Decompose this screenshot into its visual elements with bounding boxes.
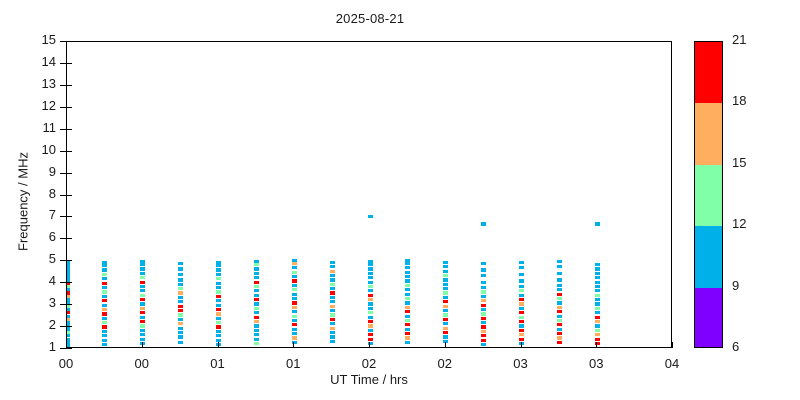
data-point bbox=[595, 302, 600, 305]
data-point bbox=[368, 294, 373, 297]
data-point bbox=[557, 328, 562, 331]
data-point bbox=[519, 294, 524, 297]
data-point bbox=[481, 268, 486, 271]
data-point bbox=[178, 322, 183, 325]
data-point bbox=[368, 302, 373, 305]
data-point bbox=[254, 320, 259, 323]
data-point bbox=[102, 268, 107, 271]
data-point bbox=[216, 321, 221, 324]
colorbar-band-orange bbox=[695, 103, 722, 164]
data-point bbox=[405, 328, 410, 331]
data-point bbox=[216, 290, 221, 293]
data-point bbox=[405, 266, 410, 269]
data-point bbox=[254, 263, 259, 266]
data-point bbox=[368, 285, 373, 288]
y-axis-title: Frequency / MHz bbox=[16, 117, 31, 287]
data-point bbox=[254, 302, 259, 305]
data-point bbox=[254, 260, 259, 263]
data-point bbox=[557, 336, 562, 339]
data-point bbox=[519, 324, 524, 327]
data-point bbox=[443, 318, 448, 321]
data-point bbox=[102, 317, 107, 320]
data-point bbox=[67, 291, 70, 294]
data-point bbox=[140, 285, 145, 288]
data-point bbox=[216, 312, 221, 315]
data-point bbox=[178, 331, 183, 334]
data-point bbox=[405, 279, 410, 282]
data-point bbox=[67, 298, 70, 301]
data-point bbox=[405, 301, 410, 304]
data-point bbox=[216, 286, 221, 289]
data-point bbox=[178, 313, 183, 316]
data-point bbox=[140, 307, 145, 310]
data-point bbox=[519, 338, 524, 341]
colorbar-tick-label: 21 bbox=[732, 32, 746, 47]
data-point bbox=[254, 272, 259, 275]
data-point bbox=[519, 333, 524, 336]
data-point bbox=[67, 318, 70, 321]
data-point bbox=[178, 296, 183, 299]
data-point bbox=[368, 329, 373, 332]
data-point bbox=[481, 321, 486, 324]
y-tick-label: 15 bbox=[16, 32, 56, 47]
y-tick-inner bbox=[66, 85, 72, 86]
data-point bbox=[292, 266, 297, 269]
data-point bbox=[254, 311, 259, 314]
data-point bbox=[405, 323, 410, 326]
data-point bbox=[140, 333, 145, 336]
data-point bbox=[368, 338, 373, 341]
data-point bbox=[481, 295, 486, 298]
data-point bbox=[67, 334, 70, 337]
x-tick-label: 01 bbox=[273, 356, 313, 371]
data-point bbox=[330, 300, 335, 303]
data-point bbox=[330, 274, 335, 277]
data-point bbox=[140, 294, 145, 297]
y-tick-label: 14 bbox=[16, 54, 56, 69]
data-point bbox=[140, 311, 145, 314]
data-point bbox=[443, 327, 448, 330]
x-tick-label: 04 bbox=[652, 356, 692, 371]
data-point bbox=[140, 329, 145, 332]
y-tick-label: 2 bbox=[16, 317, 56, 332]
y-tick-inner bbox=[66, 151, 72, 152]
data-point bbox=[330, 296, 335, 299]
data-point bbox=[557, 284, 562, 287]
x-tick bbox=[672, 342, 673, 348]
data-point bbox=[140, 267, 145, 270]
data-point bbox=[443, 270, 448, 273]
data-point bbox=[67, 338, 70, 341]
data-point bbox=[519, 329, 524, 332]
colorbar-band-purple bbox=[695, 288, 722, 348]
data-point bbox=[216, 325, 221, 328]
data-point bbox=[405, 319, 410, 322]
data-point bbox=[405, 288, 410, 291]
data-point bbox=[481, 262, 486, 265]
colorbar-tick-label: 9 bbox=[732, 278, 739, 293]
data-point bbox=[519, 289, 524, 292]
data-point bbox=[216, 277, 221, 280]
data-point bbox=[557, 315, 562, 318]
y-tick-inner bbox=[66, 216, 72, 217]
data-point bbox=[254, 298, 259, 301]
data-point bbox=[368, 281, 373, 284]
colorbar-tick-label: 18 bbox=[732, 93, 746, 108]
data-point bbox=[102, 261, 107, 264]
data-point bbox=[102, 295, 107, 298]
data-point bbox=[330, 313, 335, 316]
data-point bbox=[254, 316, 259, 319]
data-point bbox=[557, 288, 562, 291]
y-tick-inner bbox=[66, 63, 72, 64]
data-point bbox=[140, 289, 145, 292]
data-point bbox=[405, 315, 410, 318]
data-point bbox=[443, 309, 448, 312]
data-point bbox=[405, 336, 410, 339]
data-point bbox=[481, 312, 486, 315]
data-point bbox=[405, 332, 410, 335]
data-point bbox=[595, 294, 600, 297]
data-point bbox=[178, 309, 183, 312]
x-tick-label: 02 bbox=[425, 356, 465, 371]
data-point bbox=[368, 260, 373, 263]
data-point bbox=[216, 299, 221, 302]
y-tick-inner bbox=[66, 41, 72, 42]
data-point bbox=[292, 301, 297, 304]
data-point bbox=[368, 298, 373, 301]
data-point bbox=[519, 298, 524, 301]
data-point bbox=[481, 304, 486, 307]
y-tick-inner bbox=[66, 304, 72, 305]
data-point bbox=[102, 290, 107, 293]
data-point bbox=[292, 293, 297, 296]
data-point bbox=[368, 307, 373, 310]
data-point bbox=[102, 286, 107, 289]
data-point bbox=[443, 300, 448, 303]
data-point bbox=[330, 327, 335, 330]
data-point bbox=[102, 308, 107, 311]
data-point bbox=[330, 340, 335, 343]
data-point bbox=[330, 278, 335, 281]
data-point bbox=[330, 283, 335, 286]
data-point bbox=[557, 278, 562, 281]
data-point bbox=[292, 332, 297, 335]
data-point bbox=[216, 261, 221, 264]
data-point bbox=[595, 281, 600, 284]
data-point bbox=[519, 261, 524, 264]
data-point bbox=[102, 312, 107, 315]
data-point bbox=[405, 271, 410, 274]
colorbar bbox=[694, 41, 723, 348]
data-point bbox=[519, 285, 524, 288]
data-point bbox=[178, 335, 183, 338]
data-point bbox=[368, 272, 373, 275]
data-point bbox=[178, 300, 183, 303]
data-point bbox=[292, 297, 297, 300]
data-point bbox=[292, 323, 297, 326]
data-point bbox=[140, 298, 145, 301]
data-point bbox=[330, 305, 335, 308]
data-point bbox=[595, 222, 600, 225]
data-point bbox=[254, 267, 259, 270]
y-tick-inner bbox=[66, 195, 72, 196]
data-point bbox=[443, 287, 448, 290]
data-point bbox=[67, 308, 70, 311]
x-axis-title: UT Time / hrs bbox=[66, 372, 672, 387]
data-point bbox=[443, 296, 448, 299]
data-point bbox=[254, 281, 259, 284]
data-point bbox=[216, 273, 221, 276]
data-point bbox=[557, 341, 562, 344]
data-point bbox=[557, 332, 562, 335]
data-point bbox=[405, 259, 410, 262]
data-point bbox=[443, 322, 448, 325]
data-point bbox=[102, 304, 107, 307]
data-point bbox=[481, 330, 486, 333]
colorbar-band-mint-green bbox=[695, 165, 722, 226]
data-point bbox=[178, 278, 183, 281]
data-point bbox=[292, 275, 297, 278]
data-point bbox=[140, 302, 145, 305]
data-point bbox=[102, 277, 107, 280]
colorbar-tick-label: 6 bbox=[732, 339, 739, 354]
data-point bbox=[595, 329, 600, 332]
data-point bbox=[368, 324, 373, 327]
data-point bbox=[481, 274, 486, 277]
data-canvas bbox=[67, 42, 671, 347]
data-point bbox=[216, 330, 221, 333]
data-point bbox=[481, 334, 486, 337]
data-point bbox=[595, 263, 600, 266]
data-point bbox=[254, 294, 259, 297]
data-point bbox=[67, 328, 70, 331]
data-point bbox=[140, 272, 145, 275]
y-tick-inner bbox=[66, 326, 72, 327]
data-point bbox=[178, 327, 183, 330]
data-point bbox=[67, 268, 70, 271]
data-point bbox=[140, 320, 145, 323]
data-point bbox=[595, 338, 600, 341]
x-tick-label: 01 bbox=[198, 356, 238, 371]
data-point bbox=[443, 305, 448, 308]
data-point bbox=[216, 264, 221, 267]
data-point bbox=[595, 316, 600, 319]
data-point bbox=[292, 262, 297, 265]
data-point bbox=[292, 279, 297, 282]
data-point bbox=[330, 265, 335, 268]
data-point bbox=[292, 310, 297, 313]
data-point bbox=[216, 308, 221, 311]
data-point bbox=[178, 283, 183, 286]
data-point bbox=[519, 320, 524, 323]
data-point bbox=[368, 276, 373, 279]
data-point bbox=[178, 267, 183, 270]
data-point bbox=[368, 289, 373, 292]
data-point bbox=[140, 276, 145, 279]
data-point bbox=[67, 278, 70, 281]
data-point bbox=[216, 334, 221, 337]
data-point bbox=[330, 270, 335, 273]
data-point bbox=[519, 266, 524, 269]
data-point bbox=[67, 311, 70, 314]
data-point bbox=[443, 274, 448, 277]
data-point bbox=[557, 297, 562, 300]
data-point bbox=[557, 265, 562, 268]
data-point bbox=[102, 330, 107, 333]
data-point bbox=[443, 278, 448, 281]
data-point bbox=[254, 276, 259, 279]
colorbar-tick-label: 12 bbox=[732, 216, 746, 231]
data-point bbox=[330, 291, 335, 294]
data-point bbox=[443, 331, 448, 334]
data-point bbox=[481, 325, 486, 328]
data-point bbox=[140, 324, 145, 327]
data-point bbox=[557, 301, 562, 304]
data-point bbox=[292, 336, 297, 339]
data-point bbox=[519, 302, 524, 305]
data-point bbox=[595, 320, 600, 323]
data-point bbox=[67, 265, 70, 268]
data-point bbox=[595, 289, 600, 292]
data-point bbox=[595, 324, 600, 327]
data-point bbox=[178, 318, 183, 321]
data-point bbox=[519, 279, 524, 282]
data-point bbox=[557, 306, 562, 309]
data-point bbox=[330, 287, 335, 290]
data-point bbox=[102, 339, 107, 342]
data-point bbox=[254, 338, 259, 341]
data-point bbox=[481, 290, 486, 293]
data-point bbox=[595, 267, 600, 270]
colorbar-band-cyan bbox=[695, 226, 722, 287]
chart-root: 2025-08-21 123456789101112131415 0000010… bbox=[0, 0, 800, 400]
data-point bbox=[67, 285, 70, 288]
y-tick-inner bbox=[66, 282, 72, 283]
data-point bbox=[595, 298, 600, 301]
data-point bbox=[178, 287, 183, 290]
x-tick-label: 03 bbox=[501, 356, 541, 371]
data-point bbox=[254, 333, 259, 336]
data-point bbox=[102, 334, 107, 337]
data-point bbox=[405, 293, 410, 296]
data-point bbox=[595, 311, 600, 314]
data-point bbox=[368, 320, 373, 323]
data-point bbox=[102, 343, 107, 346]
data-point bbox=[140, 260, 145, 263]
data-point bbox=[443, 261, 448, 264]
data-point bbox=[292, 328, 297, 331]
data-point bbox=[67, 344, 70, 347]
data-point bbox=[481, 299, 486, 302]
data-point bbox=[292, 288, 297, 291]
y-tick-label: 12 bbox=[16, 98, 56, 113]
data-point bbox=[330, 322, 335, 325]
data-point bbox=[405, 310, 410, 313]
data-point bbox=[405, 262, 410, 265]
y-tick-inner bbox=[66, 107, 72, 108]
data-point bbox=[443, 313, 448, 316]
data-point bbox=[67, 288, 70, 291]
data-point bbox=[519, 311, 524, 314]
data-point bbox=[67, 315, 70, 318]
data-point bbox=[67, 272, 70, 275]
data-point bbox=[481, 281, 486, 284]
data-point bbox=[67, 331, 70, 334]
data-point bbox=[557, 323, 562, 326]
data-point bbox=[67, 321, 70, 324]
data-point bbox=[254, 324, 259, 327]
data-point bbox=[443, 291, 448, 294]
data-point bbox=[254, 307, 259, 310]
data-point bbox=[595, 276, 600, 279]
data-point bbox=[254, 342, 259, 345]
data-point bbox=[216, 304, 221, 307]
x-tick-label: 02 bbox=[349, 356, 389, 371]
data-point bbox=[254, 329, 259, 332]
x-tick-label: 03 bbox=[576, 356, 616, 371]
data-point bbox=[102, 321, 107, 324]
data-point bbox=[481, 317, 486, 320]
data-point bbox=[405, 297, 410, 300]
data-point bbox=[595, 333, 600, 336]
data-point bbox=[102, 264, 107, 267]
x-tick-label: 00 bbox=[46, 356, 86, 371]
y-tick-inner bbox=[66, 238, 72, 239]
data-point bbox=[368, 333, 373, 336]
y-tick-label: 13 bbox=[16, 76, 56, 91]
data-point bbox=[178, 341, 183, 344]
data-point bbox=[102, 299, 107, 302]
data-point bbox=[140, 338, 145, 341]
data-point bbox=[254, 289, 259, 292]
data-point bbox=[481, 343, 486, 346]
data-point bbox=[216, 317, 221, 320]
data-point bbox=[481, 222, 486, 225]
data-point bbox=[140, 281, 145, 284]
x-tick-label: 00 bbox=[122, 356, 162, 371]
data-point bbox=[254, 285, 259, 288]
data-point bbox=[519, 316, 524, 319]
data-point bbox=[330, 335, 335, 338]
y-tick-inner bbox=[66, 260, 72, 261]
data-point bbox=[330, 261, 335, 264]
y-tick-label: 1 bbox=[16, 339, 56, 354]
data-point bbox=[481, 286, 486, 289]
data-point bbox=[330, 331, 335, 334]
data-point bbox=[405, 275, 410, 278]
data-point bbox=[178, 262, 183, 265]
data-point bbox=[292, 315, 297, 318]
y-tick-label: 3 bbox=[16, 295, 56, 310]
data-point bbox=[368, 267, 373, 270]
data-point bbox=[443, 335, 448, 338]
data-point bbox=[519, 273, 524, 276]
data-point bbox=[519, 307, 524, 310]
y-tick-inner bbox=[66, 129, 72, 130]
data-point bbox=[368, 215, 373, 218]
data-point bbox=[292, 319, 297, 322]
data-point bbox=[292, 306, 297, 309]
data-point bbox=[178, 305, 183, 308]
plot-area bbox=[66, 41, 672, 348]
data-point bbox=[292, 271, 297, 274]
data-point bbox=[595, 272, 600, 275]
data-point bbox=[595, 285, 600, 288]
data-point bbox=[557, 319, 562, 322]
data-point bbox=[178, 273, 183, 276]
data-point bbox=[140, 316, 145, 319]
